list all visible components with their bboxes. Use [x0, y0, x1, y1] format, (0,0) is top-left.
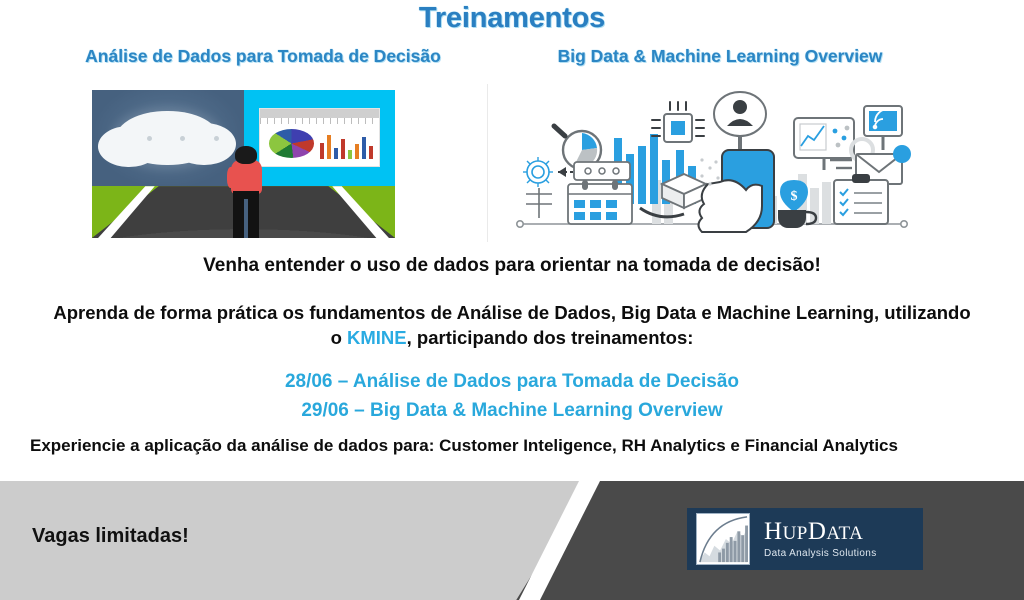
calendar-icon: [568, 180, 632, 224]
hupdata-logo-tagline: Data Analysis Solutions: [764, 547, 877, 560]
column-title-analise-dados: Análise de Dados para Tomada de Decisão: [32, 46, 494, 67]
hupdata-logo-name: HUPDATA: [764, 518, 877, 547]
hupdata-logo-text: HUPDATA Data Analysis Solutions: [764, 518, 877, 560]
logo-name-up: UP: [783, 523, 808, 544]
intro-paragraph: Aprenda de forma prática os fundamentos …: [52, 300, 972, 350]
bar-chart-icon: [320, 129, 372, 159]
logo-name-d: D: [808, 518, 827, 545]
column-divider: [487, 84, 488, 242]
person-head: [235, 146, 257, 164]
clipboard-checklist-icon: [834, 174, 888, 224]
logo-name-h: H: [764, 518, 783, 545]
person-legs: [233, 191, 259, 238]
crossroads-decision-illustration: [92, 90, 395, 238]
closing-paragraph: Experiencie a aplicação da análise de da…: [30, 434, 940, 457]
server-tray-icon: [574, 162, 630, 180]
lead-text: Venha entender o uso de dados para orien…: [0, 255, 1024, 277]
ellipsis-dots-icon: [147, 131, 220, 146]
svg-text:$: $: [791, 189, 798, 204]
tablet-chart-icon: [794, 118, 854, 170]
pie-chart-icon: [269, 129, 314, 158]
big-data-tech-icons-illustration: $: [512, 88, 912, 240]
dashboard-screen-icon: [259, 108, 380, 167]
hupdata-logo-mark: [696, 513, 750, 565]
intro-paragraph-after: , participando dos treinamentos:: [407, 327, 694, 348]
cpu-chip-icon: [652, 102, 704, 142]
logo-name-ata: ATA: [826, 523, 863, 544]
hupdata-logo: HUPDATA Data Analysis Solutions: [687, 508, 923, 570]
kmine-highlight: KMINE: [347, 327, 407, 348]
limited-seats-callout: Vagas limitadas!: [32, 525, 189, 548]
hand-phone-icon: [699, 150, 775, 232]
schedule-item-2: 29/06 – Big Data & Machine Learning Over…: [0, 400, 1024, 422]
schedule-item-1: 28/06 – Análise de Dados para Tomada de …: [0, 371, 1024, 393]
column-title-big-data: Big Data & Machine Learning Overview: [494, 46, 946, 67]
person-body: [231, 160, 261, 194]
page-title: Treinamentos: [0, 2, 1024, 35]
ai-gear-icon: [523, 157, 553, 187]
